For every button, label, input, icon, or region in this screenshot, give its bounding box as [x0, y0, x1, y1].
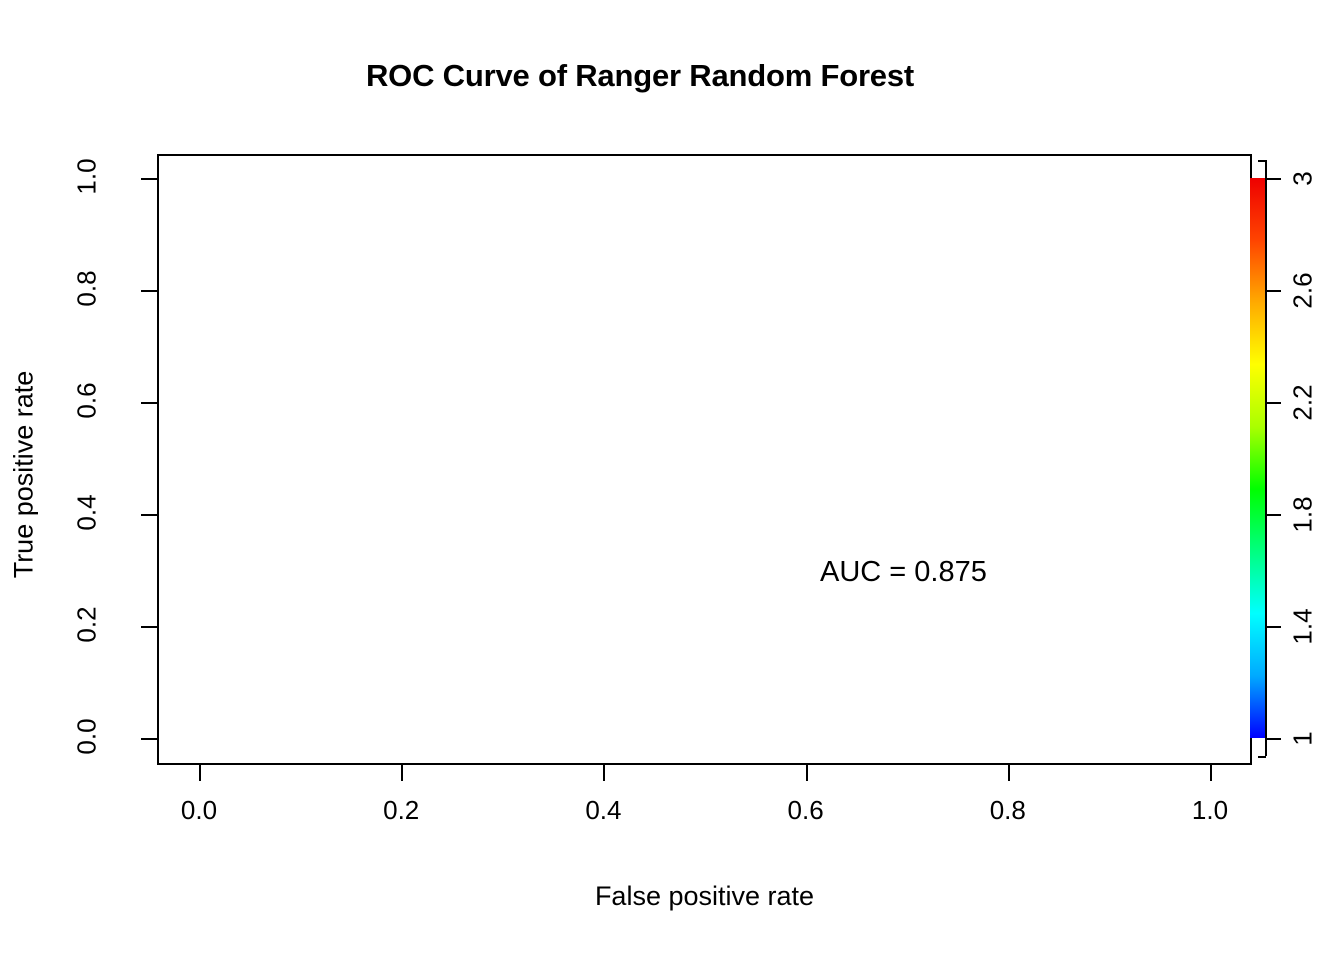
y-tick-mark	[141, 290, 157, 292]
colorbar-tick-label: 2.2	[1288, 368, 1319, 438]
y-tick-label: 0.6	[72, 361, 103, 441]
y-axis-title: True positive rate	[9, 275, 40, 675]
y-tick-label: 0.0	[72, 697, 103, 777]
x-tick-label: 1.0	[1170, 795, 1250, 826]
x-tick-mark	[199, 765, 201, 781]
chart-title: ROC Curve of Ranger Random Forest	[0, 58, 1280, 94]
x-tick-mark	[603, 765, 605, 781]
colorbar-gradient	[1250, 178, 1265, 738]
plot-frame	[157, 154, 1252, 765]
auc-annotation: AUC = 0.875	[820, 556, 987, 589]
colorbar-tick-mark	[1265, 178, 1281, 180]
colorbar-tick-mark	[1265, 290, 1281, 292]
x-axis-title: False positive rate	[157, 881, 1252, 912]
y-tick-mark	[141, 178, 157, 180]
x-tick-label: 0.2	[361, 795, 441, 826]
x-tick-mark	[401, 765, 403, 781]
y-tick-label: 0.8	[72, 249, 103, 329]
y-tick-mark	[141, 514, 157, 516]
colorbar	[1250, 178, 1265, 738]
y-tick-label: 1.0	[72, 137, 103, 217]
y-tick-mark	[141, 402, 157, 404]
x-tick-mark	[806, 765, 808, 781]
colorbar-tick-label: 1.4	[1288, 592, 1319, 662]
colorbar-tick-label: 2.6	[1288, 256, 1319, 326]
colorbar-tick-label: 3	[1288, 144, 1319, 214]
colorbar-axis-line	[1265, 160, 1267, 756]
colorbar-axis-cap-bottom	[1258, 756, 1266, 758]
colorbar-tick-label: 1	[1288, 704, 1319, 774]
y-tick-label: 0.2	[72, 585, 103, 665]
colorbar-axis-cap-top	[1258, 160, 1266, 162]
colorbar-tick-mark	[1265, 402, 1281, 404]
colorbar-tick-mark	[1265, 626, 1281, 628]
y-tick-mark	[141, 738, 157, 740]
chart-canvas: ROC Curve of Ranger Random Forest 0.00.2…	[0, 0, 1344, 960]
x-tick-label: 0.8	[968, 795, 1048, 826]
x-tick-label: 0.4	[563, 795, 643, 826]
y-tick-label: 0.4	[72, 473, 103, 553]
colorbar-tick-mark	[1265, 738, 1281, 740]
colorbar-tick-mark	[1265, 514, 1281, 516]
x-tick-mark	[1210, 765, 1212, 781]
x-tick-label: 0.0	[159, 795, 239, 826]
y-tick-mark	[141, 626, 157, 628]
colorbar-tick-label: 1.8	[1288, 480, 1319, 550]
x-tick-mark	[1008, 765, 1010, 781]
x-tick-label: 0.6	[766, 795, 846, 826]
